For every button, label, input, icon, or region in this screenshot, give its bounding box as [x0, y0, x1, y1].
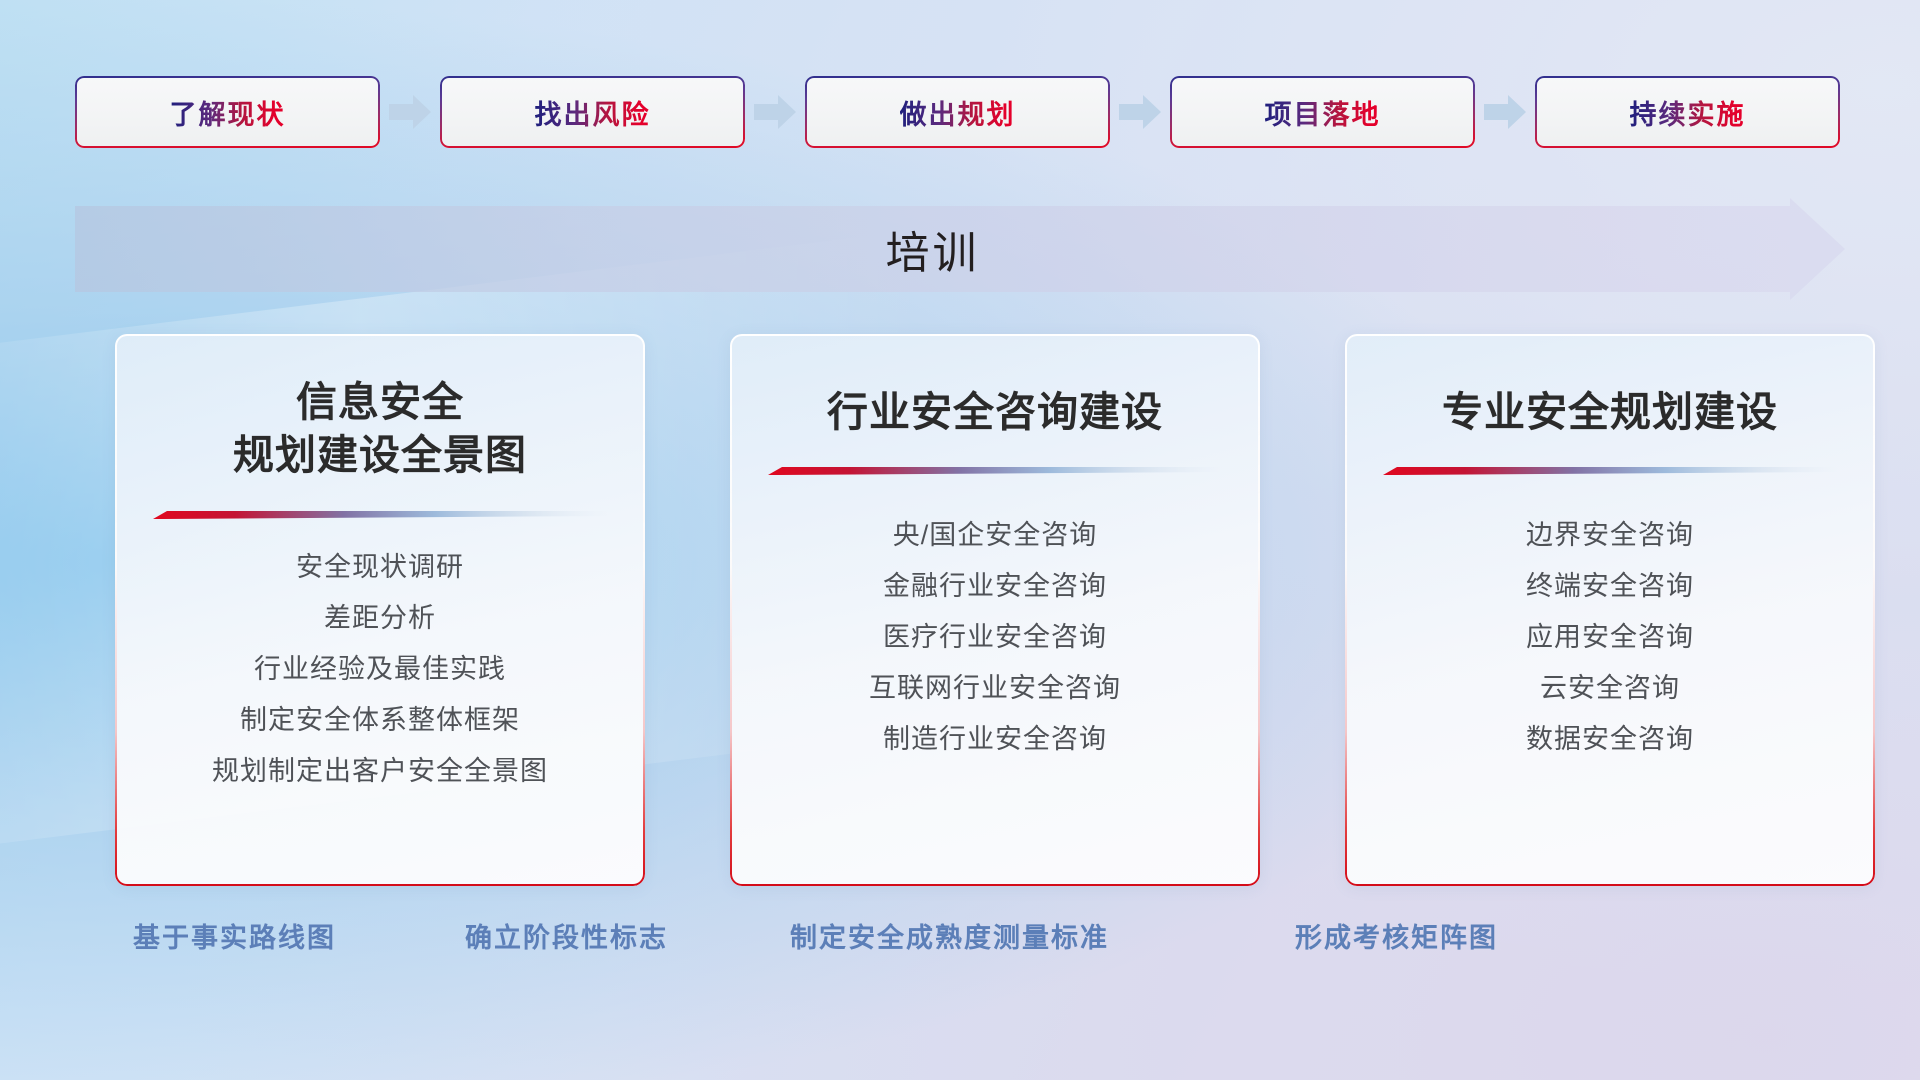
arrow-right-icon — [745, 76, 805, 148]
banner-title: 培训 — [75, 206, 1790, 292]
card-title: 信息安全 规划建设全景图 — [233, 376, 527, 483]
list-item: 应用安全咨询 — [1526, 612, 1694, 663]
card-industry-security-consulting[interactable]: 行业安全咨询建设 — [730, 334, 1260, 886]
process-steps-row: 了解现状 找出风险 做出规划 项目落地 — [75, 76, 1845, 148]
list-item: 云安全咨询 — [1540, 663, 1680, 714]
banner-arrowhead-icon — [1790, 198, 1845, 300]
gradient-rule-icon — [153, 509, 608, 520]
slide-canvas: 了解现状 找出风险 做出规划 项目落地 — [0, 0, 1920, 1080]
list-item: 差距分析 — [324, 593, 436, 644]
card-item-list: 央/国企安全咨询 金融行业安全咨询 医疗行业安全咨询 互联网行业安全咨询 制造行… — [764, 510, 1226, 765]
arrow-right-icon — [380, 76, 440, 148]
list-item: 金融行业安全咨询 — [883, 561, 1107, 612]
list-item: 终端安全咨询 — [1526, 561, 1694, 612]
list-item: 安全现状调研 — [296, 542, 464, 593]
list-item: 互联网行业安全咨询 — [869, 663, 1121, 714]
training-banner: 培训 — [75, 206, 1845, 292]
caption-label: 基于事实路线图 — [133, 916, 336, 955]
list-item: 制定安全体系整体框架 — [240, 695, 520, 746]
captions-row: 基于事实路线图 确立阶段性标志 制定安全成熟度测量标准 形成考核矩阵图 — [0, 916, 1920, 964]
process-step-label: 持续实施 — [1630, 93, 1746, 132]
list-item: 央/国企安全咨询 — [893, 510, 1098, 561]
list-item: 制造行业安全咨询 — [883, 714, 1107, 765]
process-step-4[interactable]: 项目落地 — [1170, 76, 1475, 148]
process-step-3[interactable]: 做出规划 — [805, 76, 1110, 148]
process-step-5[interactable]: 持续实施 — [1535, 76, 1840, 148]
process-step-label: 找出风险 — [535, 93, 651, 132]
process-step-label: 项目落地 — [1265, 93, 1381, 132]
list-item: 行业经验及最佳实践 — [254, 644, 506, 695]
list-item: 规划制定出客户安全全景图 — [212, 746, 548, 797]
caption-label: 制定安全成熟度测量标准 — [790, 916, 1109, 955]
list-item: 边界安全咨询 — [1526, 510, 1694, 561]
arrow-right-icon — [1110, 76, 1170, 148]
card-item-list: 边界安全咨询 终端安全咨询 应用安全咨询 云安全咨询 数据安全咨询 — [1379, 510, 1841, 765]
process-step-1[interactable]: 了解现状 — [75, 76, 380, 148]
list-item: 医疗行业安全咨询 — [883, 612, 1107, 663]
process-step-2[interactable]: 找出风险 — [440, 76, 745, 148]
card-information-security-panorama[interactable]: 信息安全 规划建设全景图 — [115, 334, 645, 886]
card-title: 专业安全规划建设 — [1442, 386, 1778, 439]
card-item-list: 安全现状调研 差距分析 行业经验及最佳实践 制定安全体系整体框架 规划制定出客户… — [149, 542, 611, 797]
gradient-rule-icon — [1383, 465, 1838, 476]
list-item: 数据安全咨询 — [1526, 714, 1694, 765]
process-step-label: 做出规划 — [900, 93, 1016, 132]
gradient-rule-icon — [768, 465, 1223, 476]
card-title: 行业安全咨询建设 — [827, 386, 1163, 439]
caption-label: 确立阶段性标志 — [465, 916, 668, 955]
caption-label: 形成考核矩阵图 — [1295, 916, 1498, 955]
card-professional-security-planning[interactable]: 专业安全规划建设 — [1345, 334, 1875, 886]
cards-row: 信息安全 规划建设全景图 — [115, 334, 1875, 886]
arrow-right-icon — [1475, 76, 1535, 148]
process-step-label: 了解现状 — [170, 93, 286, 132]
